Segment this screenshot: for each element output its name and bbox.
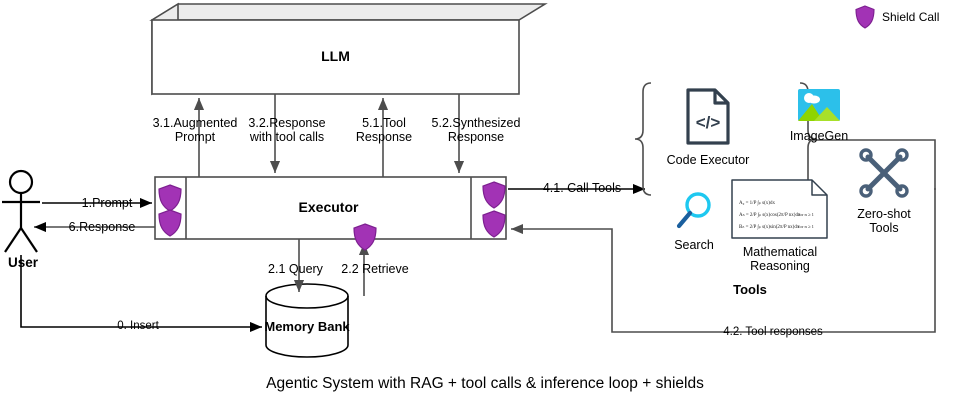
edge-label-52-synthesized-response: 5.2.Synthesized Response [418, 116, 534, 144]
edge-0-insert [21, 255, 262, 327]
legend-shield-label: Shield Call [882, 10, 939, 24]
tool-imagegen: ImageGen [776, 88, 862, 143]
code-document-icon: </> [684, 88, 732, 146]
svg-text:for n ≥ 1: for n ≥ 1 [798, 212, 815, 217]
llm-label: LLM [152, 49, 519, 63]
edge-label-1-prompt: 1.Prompt [62, 196, 152, 210]
tool-label-search: Search [662, 238, 726, 252]
edge-label-32-response-tool-calls: 3.2.Response with tool calls [232, 116, 342, 144]
user-actor [2, 171, 40, 252]
edge-label-42-tool-responses: 4.2. Tool responses [708, 326, 838, 339]
shield-icon-executor-bottom [353, 223, 377, 256]
memory-bank-label: Memory Bank [257, 320, 357, 334]
tool-label-zero-shot: Zero-shot Tools [840, 207, 928, 235]
tool-zero-shot: Zero-shot Tools [840, 145, 928, 235]
edge-label-41-call-tools: 4.1. Call Tools [532, 181, 632, 195]
edge-label-6-response: 6.Response [52, 220, 152, 234]
magnifier-icon [674, 190, 714, 232]
diagram-caption: Agentic System with RAG + tool calls & i… [0, 375, 970, 393]
tool-label-code-executor: Code Executor [664, 153, 752, 167]
legend-shield-call: Shield Call [855, 5, 939, 29]
formula-document-icon: A₀ = 1/P ∫ₚ s(x)dx Aₙ = 2/P ∫ₚ s(x)cos(2… [730, 178, 830, 240]
edge-label-22-retrieve: 2.2 Retrieve [330, 262, 420, 276]
svg-text:Bₙ = 2/P ∫ₚ s(x)sin(2π/P nx)dx: Bₙ = 2/P ∫ₚ s(x)sin(2π/P nx)dx [739, 224, 800, 230]
svg-text:A₀ = 1/P ∫ₚ s(x)dx: A₀ = 1/P ∫ₚ s(x)dx [739, 200, 775, 206]
executor-label: Executor [186, 200, 471, 214]
tools-group-label: Tools [690, 283, 810, 297]
tool-code-executor: </> Code Executor [664, 88, 752, 167]
shield-icon-executor-right-bottom [482, 210, 506, 243]
image-picture-icon [796, 88, 842, 122]
svg-text:Aₙ = 2/P ∫ₚ s(x)cos(2π/P nx)dx: Aₙ = 2/P ∫ₚ s(x)cos(2π/P nx)dx [739, 212, 801, 218]
edge-label-21-query: 2.1 Query [258, 262, 333, 276]
shield-icon-legend [855, 5, 875, 29]
svg-text:</>: </> [696, 113, 721, 132]
shield-icon-executor-left-bottom [158, 209, 182, 242]
svg-text:for n ≥ 1: for n ≥ 1 [798, 224, 815, 229]
edge-label-0-insert: 0. Insert [98, 320, 178, 333]
tool-label-imagegen: ImageGen [776, 129, 862, 143]
tool-label-math-reasoning: Mathematical Reasoning [724, 245, 836, 273]
edge-label-51-tool-response: 5.1.Tool Response [338, 116, 430, 144]
crossed-wrenches-icon [856, 145, 912, 201]
tool-math-reasoning: A₀ = 1/P ∫ₚ s(x)dx Aₙ = 2/P ∫ₚ s(x)cos(2… [724, 178, 836, 273]
user-label: User [0, 256, 46, 270]
tool-search: Search [662, 190, 726, 252]
